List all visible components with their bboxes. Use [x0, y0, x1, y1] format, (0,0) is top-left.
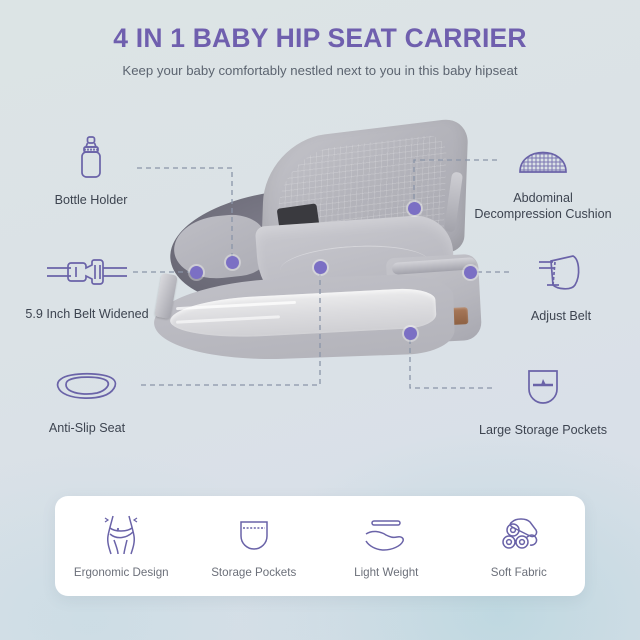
seat-icon: [12, 362, 162, 410]
feature-soft-fabric: Soft Fabric: [453, 512, 586, 580]
callout-label: Bottle Holder: [16, 192, 166, 208]
hotspot-dot-adjust-belt: [464, 266, 477, 279]
callout-adjust-belt: Adjust Belt: [486, 250, 636, 324]
callout-belt-widened: 5.9 Inch Belt Widened: [12, 248, 162, 322]
feature-ergonomic-design: Ergonomic Design: [55, 512, 188, 580]
torso-icon: [55, 512, 188, 556]
callout-label: Large Storage Pockets: [468, 422, 618, 438]
feature-storage-pockets: Storage Pockets: [188, 512, 321, 580]
adjust-belt-icon: [486, 250, 636, 298]
feature-label: Light Weight: [320, 566, 453, 580]
page-title: 4 IN 1 BABY HIP SEAT CARRIER: [0, 24, 640, 53]
callout-label: Anti-Slip Seat: [12, 420, 162, 436]
callout-label: 5.9 Inch Belt Widened: [12, 306, 162, 322]
callout-anti-slip-seat: Anti-Slip Seat: [12, 362, 162, 436]
pocket-icon: [468, 364, 618, 412]
feature-label: Ergonomic Design: [55, 566, 188, 580]
callout-label: Abdominal Decompression Cushion: [468, 190, 618, 222]
infographic-page: 4 IN 1 BABY HIP SEAT CARRIER Keep your b…: [0, 0, 640, 640]
hotspot-dot-seat: [314, 261, 327, 274]
callout-abdominal-cushion: Abdominal Decompression Cushion: [468, 132, 618, 222]
hotspot-dot-storage: [404, 327, 417, 340]
feature-light-weight: Light Weight: [320, 512, 453, 580]
hotspot-dot-flap-left: [226, 256, 239, 269]
mesh-cushion-icon: [468, 132, 618, 180]
buckle-icon: [12, 248, 162, 296]
hotspot-dot-buckle: [190, 266, 203, 279]
pouch-icon: [188, 512, 321, 556]
fabric-rolls-icon: [453, 512, 586, 556]
callout-label: Adjust Belt: [486, 308, 636, 324]
callout-bottle-holder: Bottle Holder: [16, 134, 166, 208]
callout-storage-pockets: Large Storage Pockets: [468, 364, 618, 438]
header: 4 IN 1 BABY HIP SEAT CARRIER Keep your b…: [0, 0, 640, 79]
hotspot-dot-cushion: [408, 202, 421, 215]
product-image: [152, 128, 492, 368]
feature-label: Storage Pockets: [188, 566, 321, 580]
bottle-icon: [16, 134, 166, 182]
page-subtitle: Keep your baby comfortably nestled next …: [0, 63, 640, 79]
feature-label: Soft Fabric: [453, 566, 586, 580]
features-card: Ergonomic Design Storage Pockets Light W…: [55, 496, 585, 596]
hand-feather-icon: [320, 512, 453, 556]
